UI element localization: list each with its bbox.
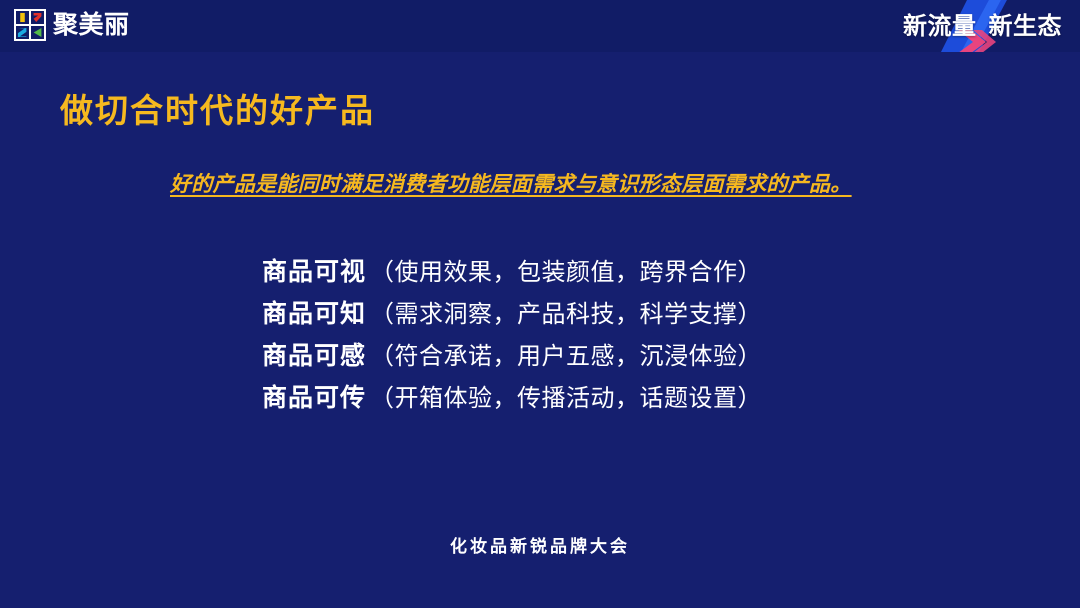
point-key: 商品可传: [262, 378, 366, 414]
list-item: 商品可感 （符合承诺，用户五感，沉浸体验）: [262, 336, 762, 378]
cyan-arrow-shape: [15, 25, 30, 40]
tagline-right: 新生态: [989, 6, 1063, 41]
subtitle-statement: 好的产品是能同时满足消费者功能层面需求与意识形态层面需求的产品。: [170, 169, 930, 202]
footer-event-name: 化妆品新锐品牌大会: [0, 532, 1080, 557]
green-arrow-shape: [30, 25, 45, 40]
list-item: 商品可传 （开箱体验，传播活动，话题设置）: [262, 378, 762, 420]
page-title: 做切合时代的好产品: [60, 90, 375, 131]
point-value: （使用效果，包装颜值，跨界合作）: [370, 252, 762, 287]
point-key: 商品可视: [262, 252, 366, 288]
yellow-bar-shape: [15, 10, 30, 25]
tagline-left: 新流量: [903, 6, 977, 41]
jumeili-grid-logo-icon: [14, 9, 46, 41]
point-key: 商品可知: [262, 294, 366, 330]
event-tagline: 新流量 新生态: [840, 0, 1070, 52]
point-value: （开箱体验，传播活动，话题设置）: [370, 378, 762, 413]
brand-logo[interactable]: 聚美丽: [14, 6, 130, 44]
list-item: 商品可知 （需求洞察，产品科技，科学支撑）: [262, 294, 762, 336]
tagline-text: 新流量 新生态: [903, 6, 1062, 41]
presentation-slide: 聚美丽 新流量 新生态 做切合时代的好产品 好的产品是能同时满足消费者功能层面需…: [0, 0, 1080, 608]
list-item: 商品可视 （使用效果，包装颜值，跨界合作）: [262, 252, 762, 294]
point-value: （需求洞察，产品科技，科学支撑）: [370, 294, 762, 329]
point-key: 商品可感: [262, 336, 366, 372]
red-arrow-shape: [30, 10, 45, 25]
point-value: （符合承诺，用户五感，沉浸体验）: [370, 336, 762, 371]
brand-name: 聚美丽: [53, 13, 130, 38]
points-list: 商品可视 （使用效果，包装颜值，跨界合作） 商品可知 （需求洞察，产品科技，科学…: [262, 252, 762, 420]
